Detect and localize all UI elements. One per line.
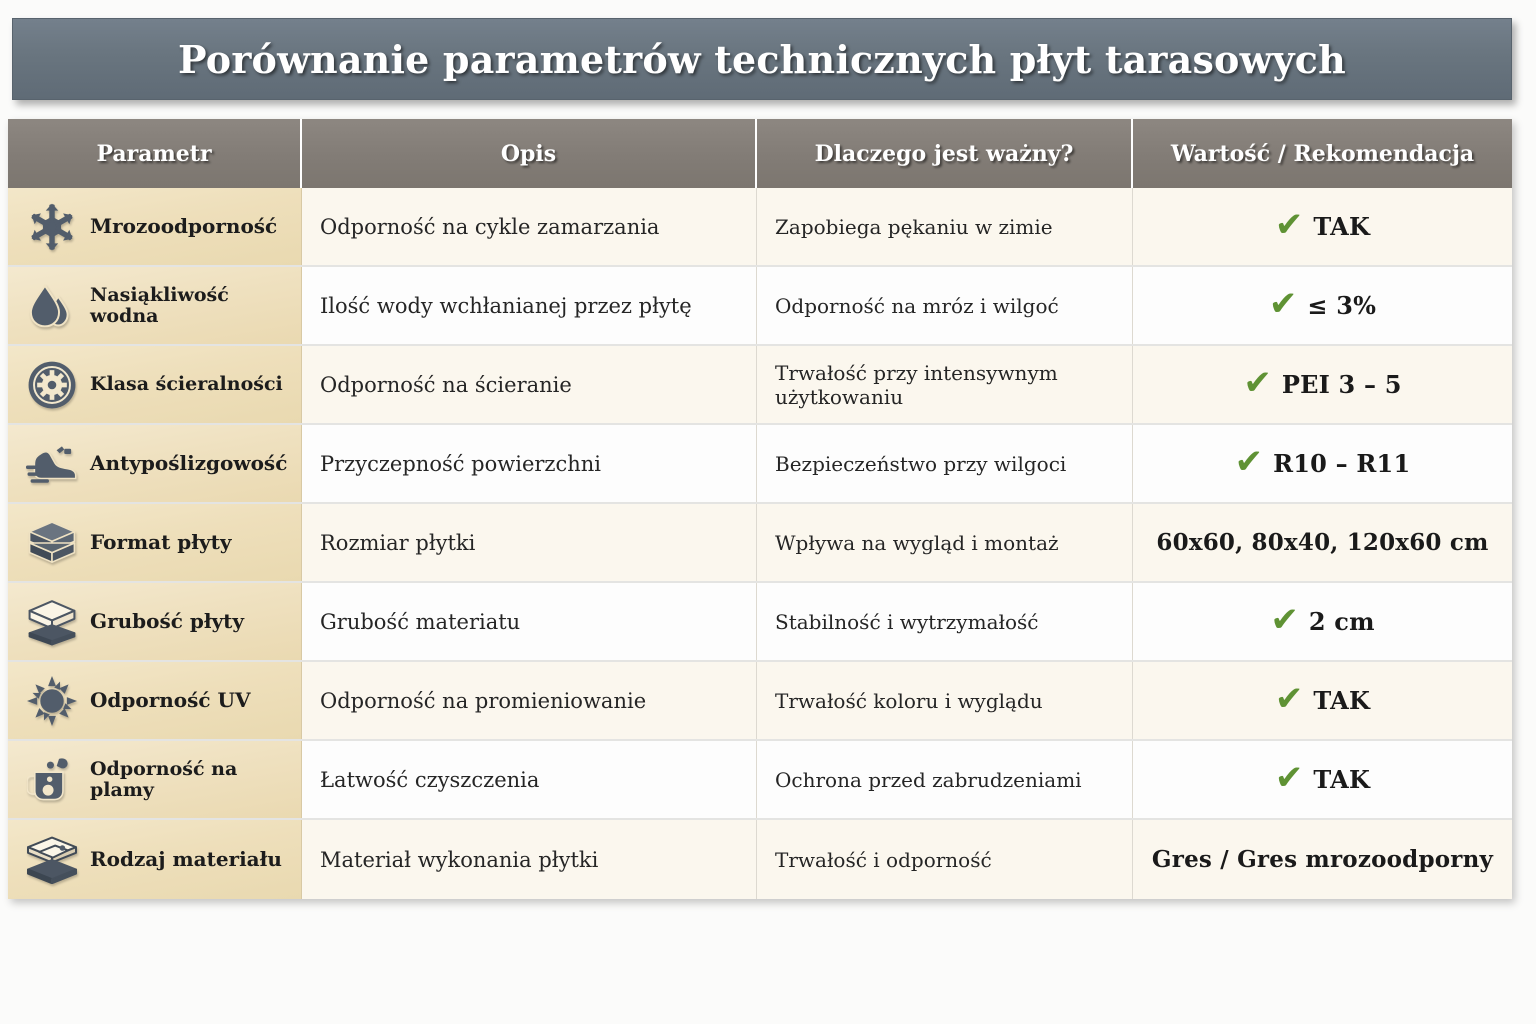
shoe-slip-icon [26,440,78,488]
check-mark-icon: ✔ [1270,603,1299,637]
description-cell: Grubość materiatu [302,583,757,660]
parameter-label: Rodzaj materiału [90,849,282,871]
water-drops-icon [26,280,78,332]
description-cell: Ilość wody wchłanianej przez płytę [302,267,757,344]
table-row: Odporność UVOdporność na promieniowanieT… [8,662,1512,741]
column-header-description: Opis [302,119,757,188]
value-cell: Gres / Gres mrozoodporny [1133,820,1512,899]
value-cell: ✔R10 – R11 [1133,425,1512,502]
parameter-cell: Antypoślizgowość [8,425,302,502]
table-row: MrozoodpornośćOdporność na cykle zamarza… [8,188,1512,267]
table-header-row: Parametr Opis Dlaczego jest ważny? Warto… [8,119,1512,188]
why-cell: Trwałość koloru i wyglądu [757,662,1133,739]
parameter-cell: Mrozoodporność [8,188,302,265]
table-row: Nasiąkliwość wodnaIlość wody wchłanianej… [8,267,1512,346]
parameter-label: Antypoślizgowość [90,453,287,475]
stacked-slab-icon [26,596,78,648]
column-header-value: Wartość / Rekomendacja [1133,119,1512,188]
sun-icon [27,676,77,726]
value-cell: ✔2 cm [1133,583,1512,660]
why-cell: Zapobiega pękaniu w zimie [757,188,1133,265]
parameter-cell: Odporność UV [8,662,302,739]
table-row: Klasa ścieralnościOdporność na ścieranie… [8,346,1512,425]
value-cell: ✔≤ 3% [1133,267,1512,344]
parameter-label: Nasiąkliwość wodna [90,285,301,326]
check-mark-icon: ✔ [1243,366,1272,400]
value-text: TAK [1313,765,1370,794]
coffee-mug-icon [26,754,78,806]
why-cell: Trwałość przy intensywnym użytkowaniu [757,346,1133,423]
material-layers-icon [26,834,78,886]
parameter-cell: Odporność na plamy [8,741,302,818]
parameter-label: Odporność na plamy [90,759,301,800]
value-cell: 60x60, 80x40, 120x60 cm [1133,504,1512,581]
check-mark-icon: ✔ [1275,761,1304,795]
table-row: Odporność na plamyŁatwość czyszczeniaOch… [8,741,1512,820]
description-cell: Odporność na promieniowanie [302,662,757,739]
comparison-table: Parametr Opis Dlaczego jest ważny? Warto… [8,119,1512,899]
sun-icon [26,675,78,727]
table-row: Rodzaj materiałuMateriał wykonania płytk… [8,820,1512,899]
value-cell: ✔TAK [1133,662,1512,739]
water-drops-icon [27,281,77,331]
why-cell: Bezpieczeństwo przy wilgoci [757,425,1133,502]
parameter-label: Klasa ścieralności [90,374,283,395]
value-text: TAK [1313,686,1370,715]
column-header-why: Dlaczego jest ważny? [757,119,1133,188]
description-cell: Odporność na ścieranie [302,346,757,423]
parameter-label: Format płyty [90,532,231,554]
value-cell: ✔TAK [1133,741,1512,818]
why-cell: Ochrona przed zabrudzeniami [757,741,1133,818]
solid-cube-icon [26,519,78,567]
check-mark-icon: ✔ [1269,287,1298,321]
coffee-mug-icon [27,755,77,805]
solid-cube-icon [26,517,78,569]
check-mark-icon: ✔ [1235,445,1264,479]
value-text: ≤ 3% [1307,291,1376,320]
table-row: Format płytyRozmiar płytkiWpływa na wygl… [8,504,1512,583]
page-title: Porównanie parametrów technicznych płyt … [178,37,1346,82]
title-banner: Porównanie parametrów technicznych płyt … [12,18,1512,100]
gear-wheel-icon [27,360,77,410]
value-text: R10 – R11 [1273,449,1410,478]
value-text: 2 cm [1309,607,1375,636]
shoe-slip-icon [26,438,78,490]
description-cell: Łatwość czyszczenia [302,741,757,818]
snowflake-icon [27,202,77,252]
table-row: AntypoślizgowośćPrzyczepność powierzchni… [8,425,1512,504]
value-text: PEI 3 – 5 [1282,370,1402,399]
check-mark-icon: ✔ [1275,208,1304,242]
stacked-slab-icon [26,598,78,646]
parameter-cell: Rodzaj materiału [8,820,302,899]
value-cell: ✔TAK [1133,188,1512,265]
value-text: Gres / Gres mrozoodporny [1152,846,1493,873]
parameter-label: Mrozoodporność [90,216,277,238]
material-layers-icon [26,836,78,884]
why-cell: Odporność na mróz i wilgoć [757,267,1133,344]
parameter-cell: Nasiąkliwość wodna [8,267,302,344]
parameter-cell: Grubość płyty [8,583,302,660]
snowflake-icon [26,201,78,253]
value-text: TAK [1313,212,1370,241]
description-cell: Przyczepność powierzchni [302,425,757,502]
description-cell: Rozmiar płytki [302,504,757,581]
gear-wheel-icon [26,359,78,411]
why-cell: Trwałość i odporność [757,820,1133,899]
column-header-parameter: Parametr [8,119,302,188]
parameter-label: Grubość płyty [90,611,244,633]
check-mark-icon: ✔ [1275,682,1304,716]
value-text: 60x60, 80x40, 120x60 cm [1156,529,1488,556]
table-row: Grubość płytyGrubość materiatuStabilność… [8,583,1512,662]
why-cell: Wpływa na wygląd i montaż [757,504,1133,581]
parameter-cell: Klasa ścieralności [8,346,302,423]
value-cell: ✔PEI 3 – 5 [1133,346,1512,423]
parameter-label: Odporność UV [90,690,251,712]
description-cell: Odporność na cykle zamarzania [302,188,757,265]
why-cell: Stabilność i wytrzymałość [757,583,1133,660]
description-cell: Materiał wykonania płytki [302,820,757,899]
parameter-cell: Format płyty [8,504,302,581]
